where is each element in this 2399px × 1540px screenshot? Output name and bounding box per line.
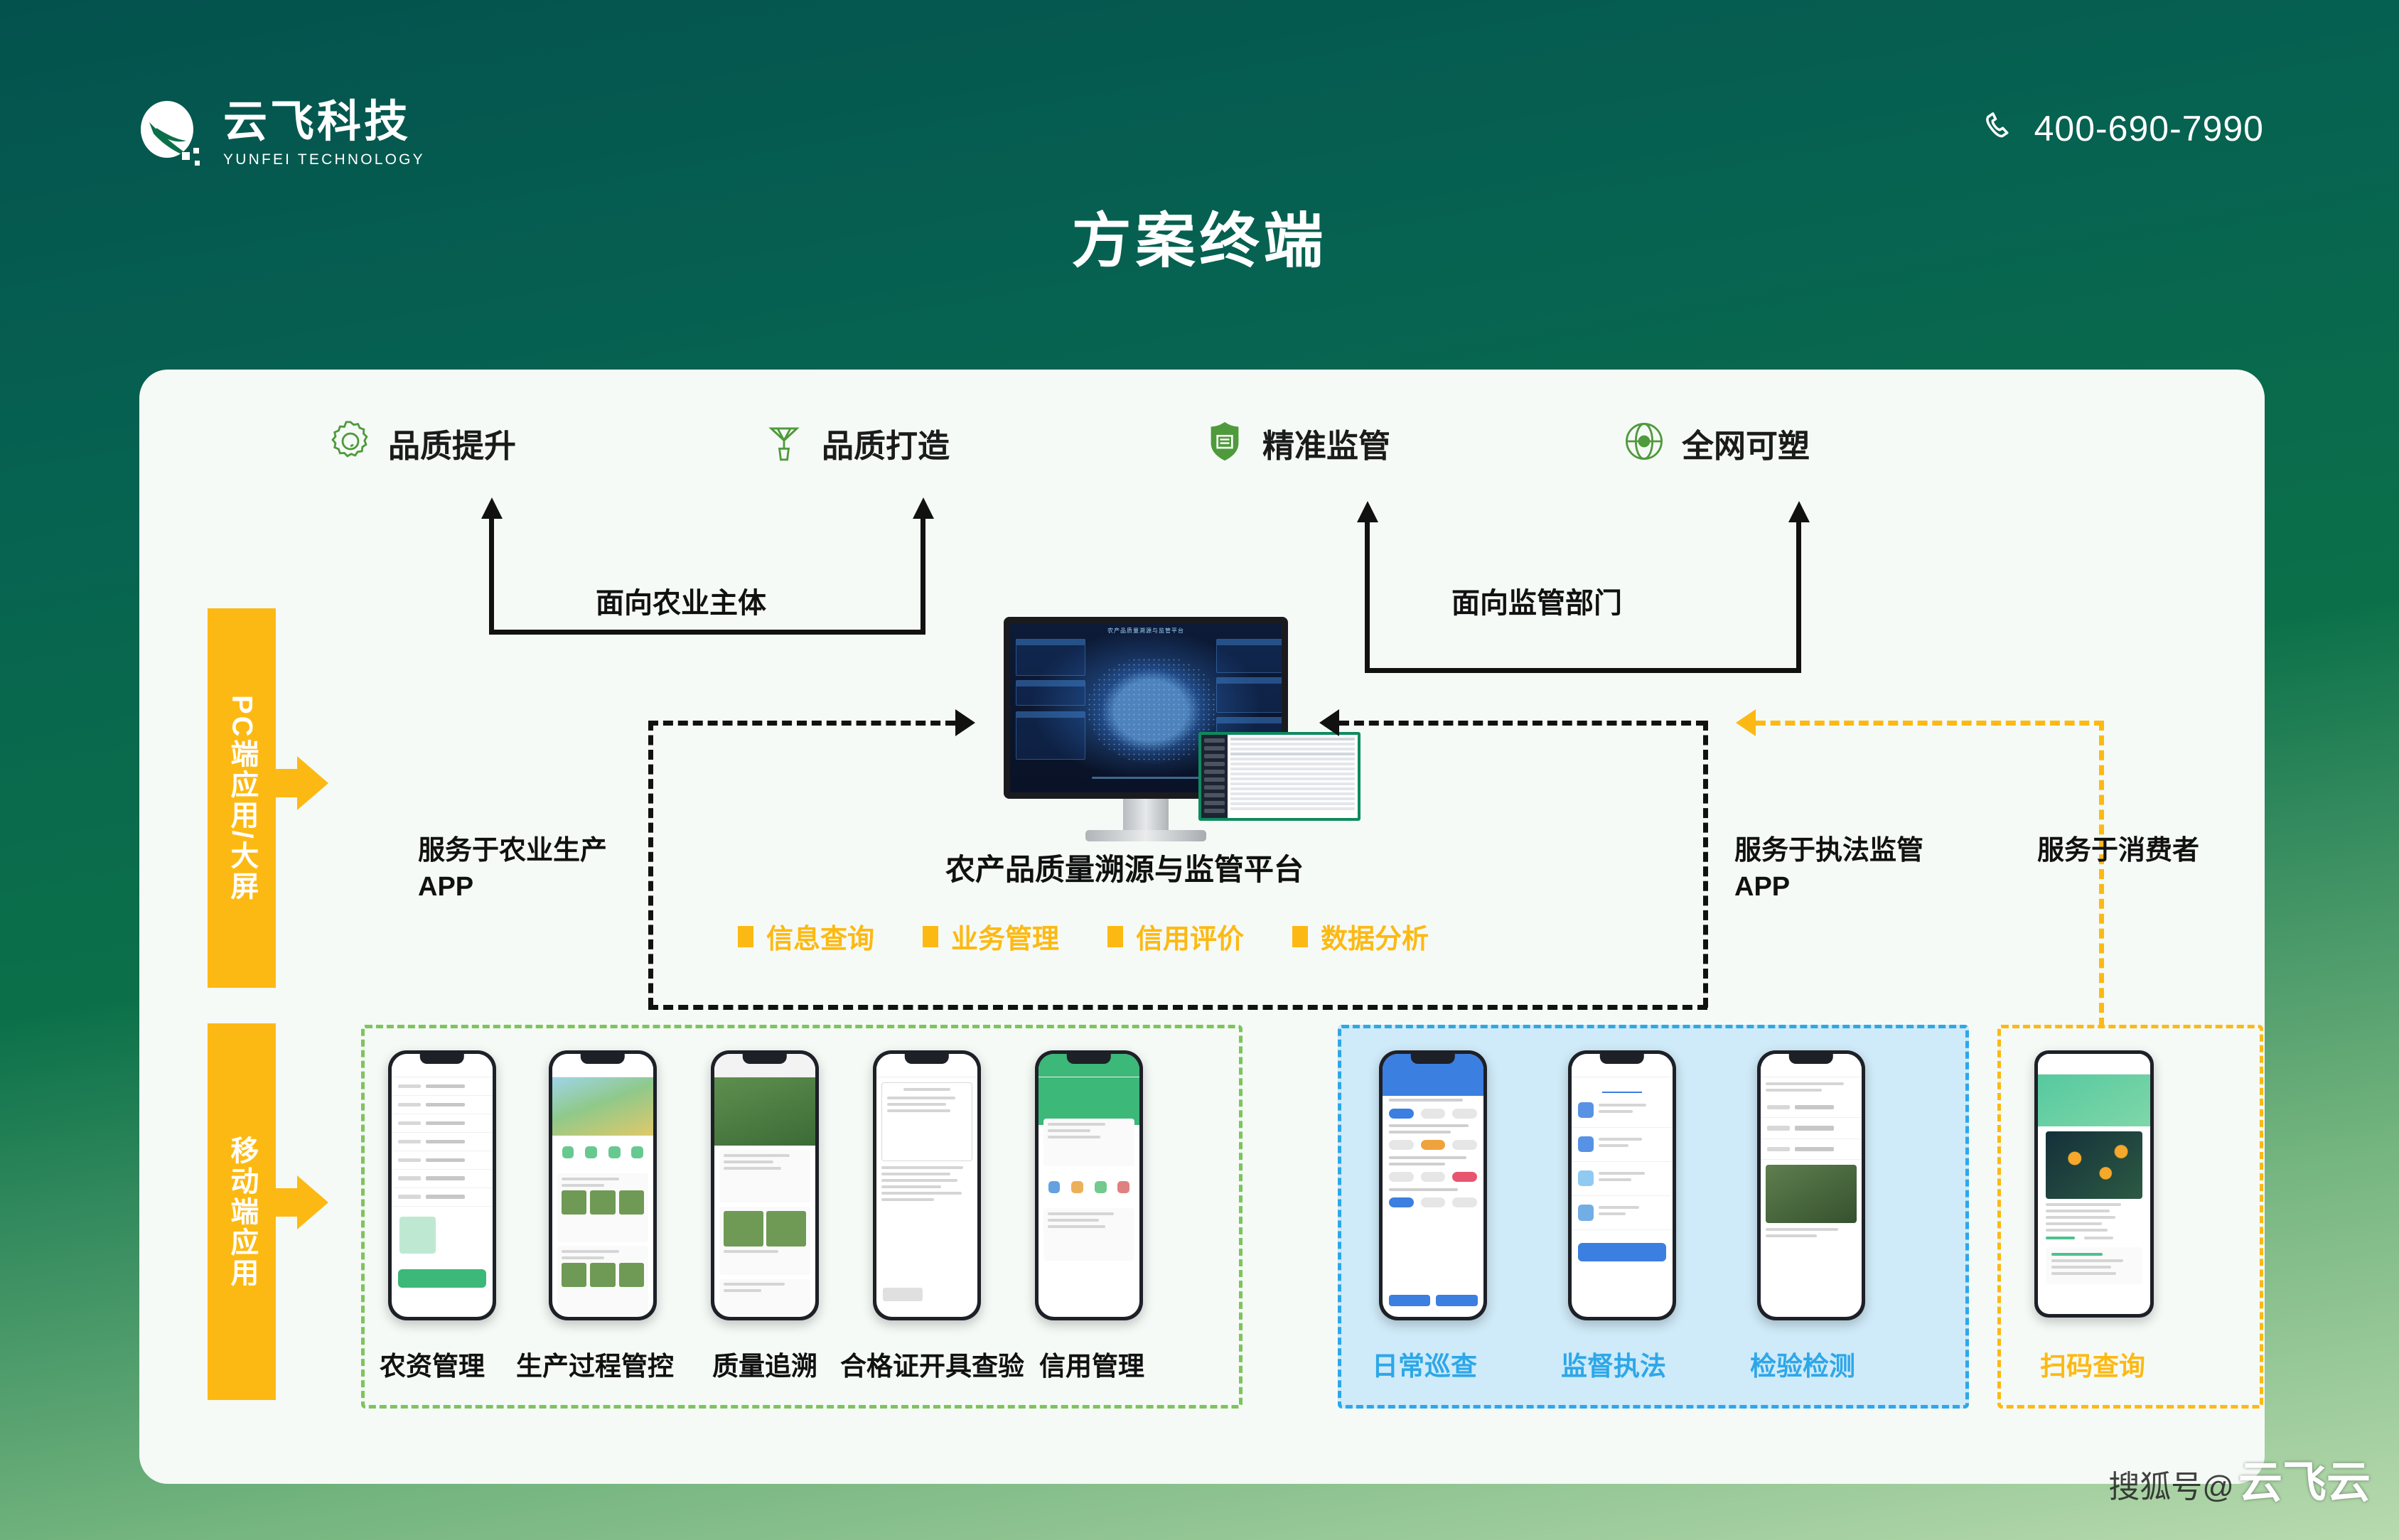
app-screen-service-list [1572,1054,1673,1317]
dashboard-title: 农产品质量溯源与监管平台 [1010,627,1282,635]
dashboard-panel-right-top [1216,639,1286,673]
page-title: 方案终端 [0,193,2399,279]
phone-mockup-certificate[interactable] [873,1050,981,1320]
phone-caption-law-enforcement: 监督执法 [1561,1345,1666,1383]
connector-left-bottom [648,1005,1707,1010]
shield-supervision-icon [1203,419,1247,467]
logo-english-name: YUNFEI TECHNOLOGY [223,151,425,168]
connector-right-arrowhead [1319,709,1339,736]
app-screen-trace [714,1054,815,1317]
tag-credit-evaluation[interactable]: 信用评价 [1107,917,1244,956]
phone-mockup-scan-query[interactable] [2034,1050,2154,1318]
feature-network-shapeable: 全网可塑 [1622,419,1810,467]
flow-stem-2 [921,519,925,632]
flow-label-left: 面向农业主体 [596,580,766,621]
pc-terminal-label: PC端应用/大屏 [225,695,259,902]
connector-left-arrowhead [955,709,975,736]
feature-label: 全网可塑 [1682,420,1810,466]
phone-mockup-inspection-test[interactable] [1757,1050,1865,1320]
phone-mockup-production-control[interactable] [549,1050,657,1320]
connector-left-to-platform [648,721,955,726]
feature-precise-supervision: 精准监管 [1203,419,1390,467]
phone-caption-certificate: 合格证开具查验 [840,1345,1024,1383]
app-screen-product-detail [2038,1054,2150,1314]
monitor-neck [1123,799,1169,830]
dashboard-panel-left-top [1016,639,1085,676]
pc-tab-nib-arrow [297,756,328,810]
phone-caption-daily-inspection: 日常巡查 [1372,1345,1477,1383]
contact-phone[interactable]: 400-690-7990 [1983,108,2264,149]
phone-caption-production-control: 生产过程管控 [516,1345,674,1383]
app-screen-cert [876,1054,977,1317]
flow-stem-3 [1365,522,1370,672]
yunfei-leaf-icon [135,99,205,169]
poster-stage: 云飞科技 YUNFEI TECHNOLOGY 400-690-7990 方案终端… [0,0,2399,1540]
tag-data-analysis[interactable]: 数据分析 [1292,917,1429,956]
connector-consumer-horizontal [1756,721,2104,726]
dashboard-panel-left-mid [1016,680,1085,706]
watermark-name: 云飞云 [2238,1446,2371,1510]
tag-label: 业务管理 [951,917,1059,956]
diamond-craft-icon [762,419,806,467]
platform-table-window [1198,732,1360,821]
app-screen-credit [1039,1054,1139,1317]
feature-quality-build: 品质打造 [762,419,950,467]
platform-name-label: 农产品质量溯源与监管平台 [945,850,1304,890]
service-production-app-label: 服务于农业生产 APP [418,833,607,905]
feature-quality-improve: 品质提升 [328,419,516,467]
bullet-square-icon [923,926,938,947]
app-screen-form [392,1054,493,1317]
tag-business-management[interactable]: 业务管理 [923,917,1059,956]
sidebar-item-mobile-terminal[interactable]: 移动端应用 [208,1023,276,1400]
sidebar-item-pc-terminal[interactable]: PC端应用/大屏 [208,608,276,988]
connector-left-vertical [648,721,653,1008]
brand-logo: 云飞科技 YUNFEI TECHNOLOGY [135,99,425,169]
feature-label: 精准监管 [1262,420,1390,466]
bullet-square-icon [738,926,753,947]
phone-caption-inspection-test: 检验检测 [1750,1345,1855,1383]
feature-label: 品质提升 [388,420,516,466]
tag-label: 信用评价 [1136,917,1244,956]
phone-mockup-credit[interactable] [1035,1050,1143,1320]
app-screen-test [1761,1054,1862,1317]
watermark: 搜狐号@ 云飞云 [2108,1446,2371,1510]
service-consumer-label: 服务于消费者 [2037,833,2199,869]
flow-bus-left [489,630,925,635]
mobile-terminal-label: 移动端应用 [225,1136,259,1288]
connector-consumer-vertical [2099,721,2104,1028]
app-screen-checklist [1383,1054,1483,1317]
phone-caption-credit: 信用管理 [1039,1345,1144,1383]
dashboard-panel-left-bottom [1016,711,1085,760]
connector-right-to-platform [1339,721,1706,726]
dashboard-footer-bar [1092,777,1213,779]
tag-info-query[interactable]: 信息查询 [738,917,874,956]
phone-number-text: 400-690-7990 [2034,108,2264,149]
pc-tab-nib-stem [274,769,299,797]
phone-mockup-agri-materials[interactable] [388,1050,496,1320]
tag-label: 信息查询 [766,917,874,956]
monitor-base [1085,830,1206,841]
flow-label-right: 面向监管部门 [1451,580,1622,621]
phone-caption-quality-trace: 质量追溯 [712,1345,817,1383]
phone-mockup-quality-trace[interactable] [711,1050,819,1320]
mobile-tab-nib-stem [274,1188,299,1217]
target-network-icon [1622,419,1666,467]
flow-arrowhead-1 [481,497,503,519]
dashboard-panel-right-mid [1216,677,1286,713]
logo-chinese-name: 云飞科技 [223,100,425,144]
flow-stem-4 [1796,522,1801,672]
phone-mockup-law-enforcement[interactable] [1568,1050,1676,1320]
flow-arrowhead-4 [1788,501,1810,522]
bullet-square-icon [1107,926,1123,947]
connector-right-vertical [1703,721,1708,1008]
service-law-app-label: 服务于执法监管 APP [1734,833,1923,905]
phone-caption-scan-query: 扫码查询 [2040,1345,2145,1383]
table-window-sidebar [1201,735,1228,818]
phone-icon [1983,109,2019,149]
bullet-square-icon [1292,926,1308,947]
flow-arrowhead-3 [1357,501,1378,522]
gear-quality-icon [328,419,372,467]
flow-bus-right [1365,668,1801,673]
app-screen-feed [552,1054,653,1317]
table-window-body [1228,735,1358,818]
phone-caption-agri-materials: 农资管理 [380,1345,485,1383]
tag-label: 数据分析 [1321,917,1429,956]
feature-label: 品质打造 [822,420,950,466]
platform-capability-tags: 信息查询 业务管理 信用评价 数据分析 [738,917,1429,956]
connector-consumer-arrowhead [1736,709,1756,736]
flow-stem-1 [489,519,494,632]
watermark-prefix: 搜狐号@ [2108,1461,2234,1507]
flow-arrowhead-2 [913,497,934,519]
mobile-tab-nib-arrow [297,1175,328,1229]
phone-mockup-daily-inspection[interactable] [1379,1050,1487,1320]
